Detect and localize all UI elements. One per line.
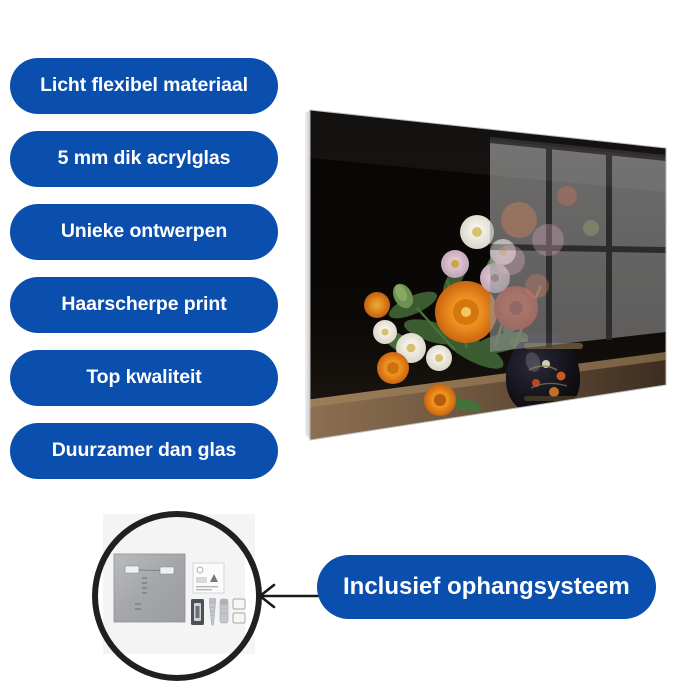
feature-pill-label: Duurzamer dan glas bbox=[52, 441, 237, 461]
acrylic-print-panel bbox=[305, 100, 680, 450]
hanging-kit-circle-frame bbox=[92, 511, 262, 681]
feature-pill-list: Licht flexibel materiaal 5 mm dik acrylg… bbox=[10, 58, 278, 496]
feature-pill-duurzamer-dan-glas[interactable]: Duurzamer dan glas bbox=[10, 423, 278, 479]
feature-pill-label: Unieke ontwerpen bbox=[61, 222, 227, 242]
artwork-area bbox=[305, 100, 680, 450]
feature-pill-haarscherpe-print[interactable]: Haarscherpe print bbox=[10, 277, 278, 333]
feature-pill-unieke-ontwerpen[interactable]: Unieke ontwerpen bbox=[10, 204, 278, 260]
feature-pill-label: Licht flexibel materiaal bbox=[40, 76, 248, 96]
acrylic-print-svg bbox=[305, 100, 680, 450]
hanging-kit-callout-pill[interactable]: Inclusief ophangsysteem bbox=[317, 555, 656, 619]
feature-pill-top-kwaliteit[interactable]: Top kwaliteit bbox=[10, 350, 278, 406]
feature-pill-5-mm-dik-acrylglas[interactable]: 5 mm dik acrylglas bbox=[10, 131, 278, 187]
hanging-kit-callout-label: Inclusief ophangsysteem bbox=[343, 575, 630, 599]
product-feature-graphic: Licht flexibel materiaal 5 mm dik acrylg… bbox=[0, 0, 700, 700]
feature-pill-licht-flexibel-materiaal[interactable]: Licht flexibel materiaal bbox=[10, 58, 278, 114]
feature-pill-label: Haarscherpe print bbox=[61, 295, 226, 315]
feature-pill-label: 5 mm dik acrylglas bbox=[58, 149, 231, 169]
feature-pill-label: Top kwaliteit bbox=[86, 368, 201, 388]
callout-arrow bbox=[248, 576, 326, 616]
